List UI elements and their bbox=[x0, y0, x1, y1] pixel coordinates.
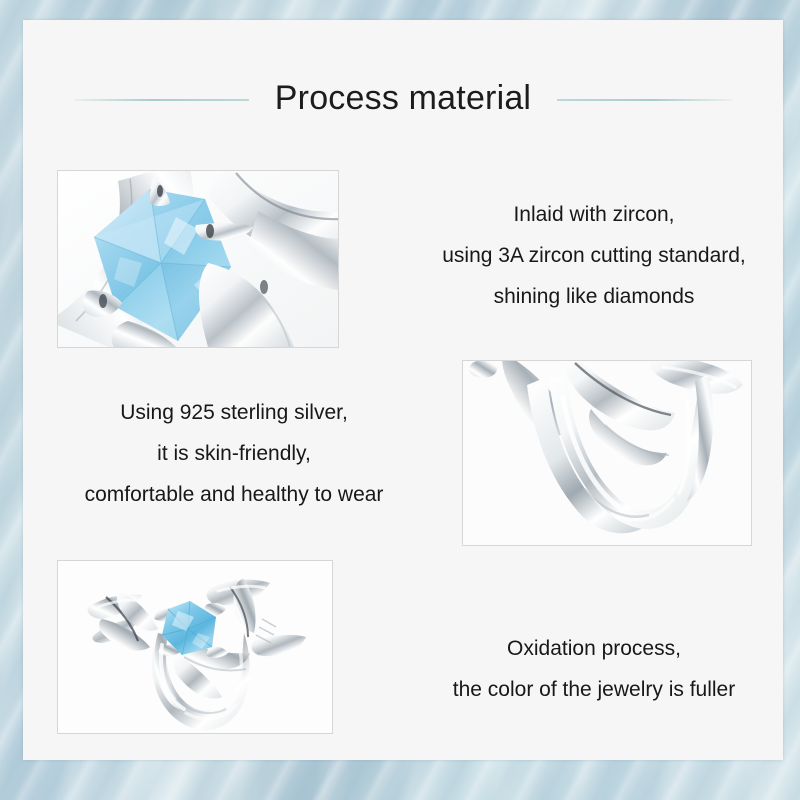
content-card: Process material bbox=[23, 20, 783, 760]
title-rule-right bbox=[557, 99, 732, 101]
copy-block-oxidation: Oxidation process, the color of the jewe… bbox=[405, 628, 783, 710]
full-ring-image bbox=[58, 561, 332, 733]
copy-line: comfortable and healthy to wear bbox=[45, 474, 423, 515]
copy-line: using 3A zircon cutting standard, bbox=[405, 235, 783, 276]
copy-block-zircon: Inlaid with zircon, using 3A zircon cutt… bbox=[405, 194, 783, 317]
copy-line: it is skin-friendly, bbox=[45, 433, 423, 474]
photo-panel-silver-band bbox=[462, 360, 752, 546]
copy-line: the color of the jewelry is fuller bbox=[405, 669, 783, 710]
product-detail-banner: Process material bbox=[0, 0, 800, 800]
copy-block-silver: Using 925 sterling silver, it is skin-fr… bbox=[45, 392, 423, 515]
silver-band-image bbox=[463, 361, 751, 545]
zircon-macro-image bbox=[58, 171, 338, 347]
photo-panel-zircon-macro bbox=[57, 170, 339, 348]
copy-line: Using 925 sterling silver, bbox=[45, 392, 423, 433]
page-title-row: Process material bbox=[23, 68, 783, 128]
photo-panel-full-ring bbox=[57, 560, 333, 734]
copy-line: Oxidation process, bbox=[405, 628, 783, 669]
page-title: Process material bbox=[249, 79, 557, 118]
title-rule-left bbox=[74, 99, 249, 101]
copy-line: shining like diamonds bbox=[405, 276, 783, 317]
copy-line: Inlaid with zircon, bbox=[405, 194, 783, 235]
